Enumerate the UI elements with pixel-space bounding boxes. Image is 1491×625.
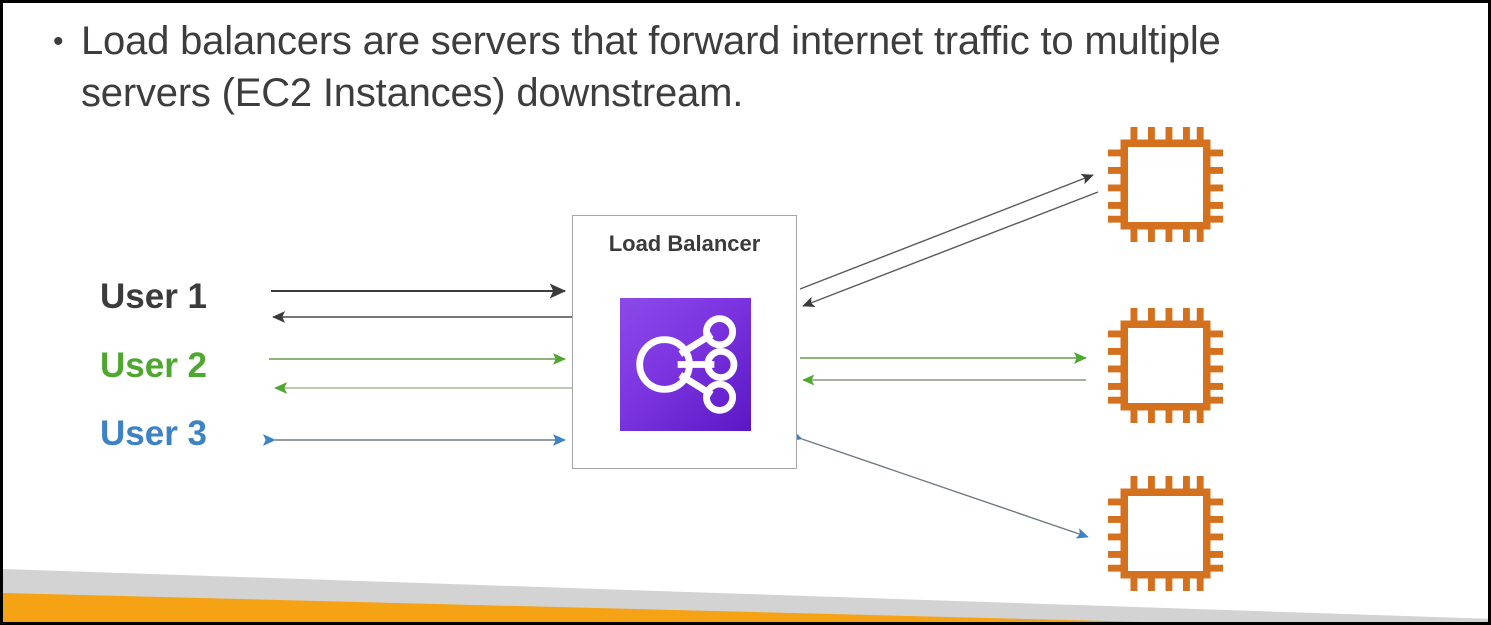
decoration-orange-band <box>3 3 1491 625</box>
slide-canvas: • Load balancers are servers that forwar… <box>0 0 1491 625</box>
